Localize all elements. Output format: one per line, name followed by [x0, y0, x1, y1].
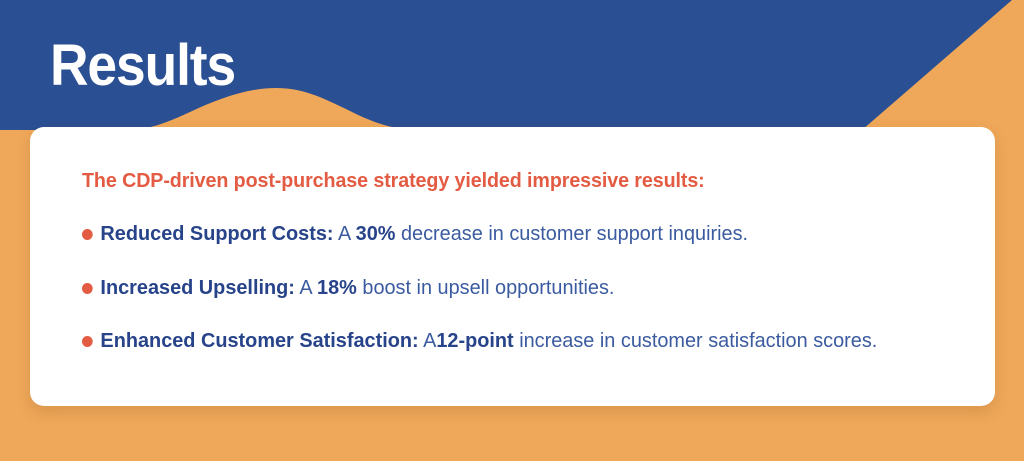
- list-item: Reduced Support Costs: A 30% decrease in…: [82, 223, 939, 246]
- bullet-metric: 30%: [356, 222, 396, 245]
- bullet-label: Reduced Support Costs:: [100, 222, 333, 245]
- list-item: Increased Upselling: A 18% boost in upse…: [82, 277, 939, 300]
- page-title: Results: [50, 36, 235, 97]
- bullet-lead: A: [334, 222, 356, 245]
- bullet-rest: boost in upsell opportunities.: [357, 276, 615, 299]
- bullet-dot-icon: [82, 229, 93, 240]
- bullet-rest: decrease in customer support inquiries.: [395, 222, 748, 245]
- bullet-metric: 12-point: [436, 329, 513, 352]
- bullet-metric: 18%: [317, 276, 357, 299]
- bullet-label: Enhanced Customer Satisfaction:: [100, 329, 418, 352]
- results-slide: Results The CDP-driven post-purchase str…: [0, 0, 1024, 461]
- bullet-dot-icon: [82, 283, 93, 294]
- results-card: The CDP-driven post-purchase strategy yi…: [30, 127, 995, 406]
- results-bullet-list: Reduced Support Costs: A 30% decrease in…: [52, 223, 965, 353]
- bullet-label: Increased Upselling:: [100, 276, 295, 299]
- bullet-dot-icon: [82, 336, 93, 347]
- list-item: Enhanced Customer Satisfaction: A12-poin…: [82, 330, 939, 353]
- bullet-rest: increase in customer satisfaction scores…: [514, 329, 878, 352]
- bullet-lead: A: [419, 329, 437, 352]
- bullet-lead: A: [295, 276, 317, 299]
- card-heading: The CDP-driven post-purchase strategy yi…: [82, 169, 930, 193]
